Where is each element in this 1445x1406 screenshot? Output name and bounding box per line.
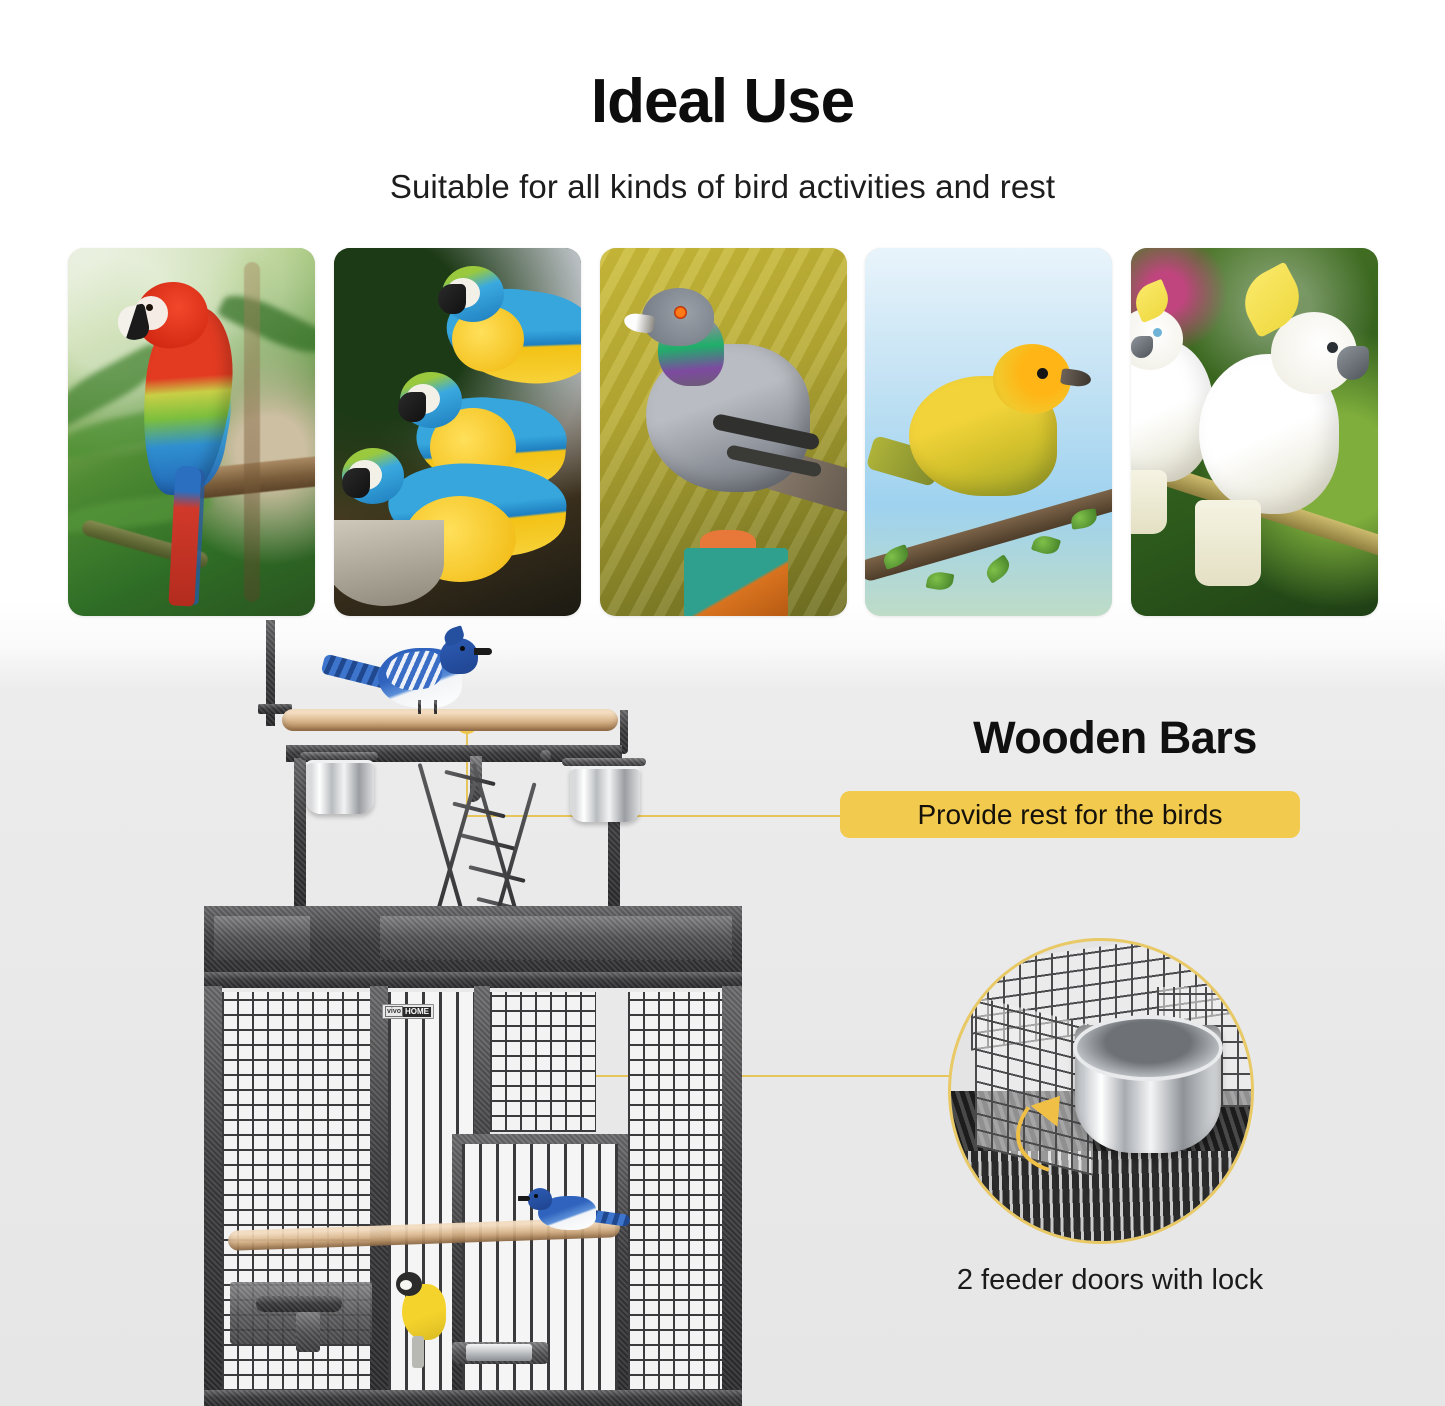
feeder-door-handle[interactable] [256, 1296, 342, 1312]
cage-center-post-left [370, 986, 388, 1406]
rock-pigeon-image [600, 248, 847, 616]
photo-card-cockatoos[interactable] [1131, 248, 1378, 616]
cage-mesh-panel-right [628, 992, 722, 1406]
bird-photo-strip [68, 248, 1378, 616]
cage-mesh-panel-right-upper [490, 992, 596, 1132]
scarlet-macaw-image [68, 248, 315, 616]
cockatoos-image [1131, 248, 1378, 616]
steel-bowl-left[interactable] [306, 760, 374, 814]
saffron-finch-image [865, 248, 1112, 616]
brand-badge: vivo HOME [382, 1004, 434, 1019]
feeder-door-zoom-inset [948, 938, 1254, 1244]
cage-roof-panel-left [214, 916, 310, 960]
photo-card-rock-pigeon[interactable] [600, 248, 847, 616]
page-title: Ideal Use [0, 66, 1445, 137]
feeder-doors-caption: 2 feeder doors with lock [880, 1264, 1340, 1297]
steel-bowl-right[interactable] [570, 766, 640, 822]
playtop-screw [540, 750, 551, 761]
brand-name-prefix: vivo [385, 1006, 403, 1017]
cage-frame-left [204, 986, 222, 1406]
wooden-top-perch [282, 709, 618, 731]
bird-cage-illustration: vivo HOME [0, 600, 820, 1406]
cage-door-lock-body[interactable] [466, 1344, 532, 1361]
infographic-page: Ideal Use Suitable for all kinds of bird… [0, 0, 1445, 1406]
feeder-door-latch[interactable] [296, 1312, 320, 1352]
playtop-left-leg [294, 758, 306, 912]
photo-card-saffron-finch[interactable] [865, 248, 1112, 616]
wooden-bars-heading: Wooden Bars [905, 712, 1325, 764]
photo-card-blue-gold-macaws[interactable] [334, 248, 581, 616]
brand-name-suffix: HOME [403, 1007, 431, 1017]
cage-roof-lip [204, 972, 742, 988]
cage-roof-panel-right [380, 916, 732, 960]
cage-frame-right [722, 986, 742, 1406]
blue-gold-macaws-image [334, 248, 581, 616]
photo-card-scarlet-macaw[interactable] [68, 248, 315, 616]
page-subtitle: Suitable for all kinds of bird activitie… [0, 168, 1445, 206]
wooden-bars-badge: Provide rest for the birds [840, 791, 1300, 838]
cage-bottom-rail [204, 1390, 742, 1406]
